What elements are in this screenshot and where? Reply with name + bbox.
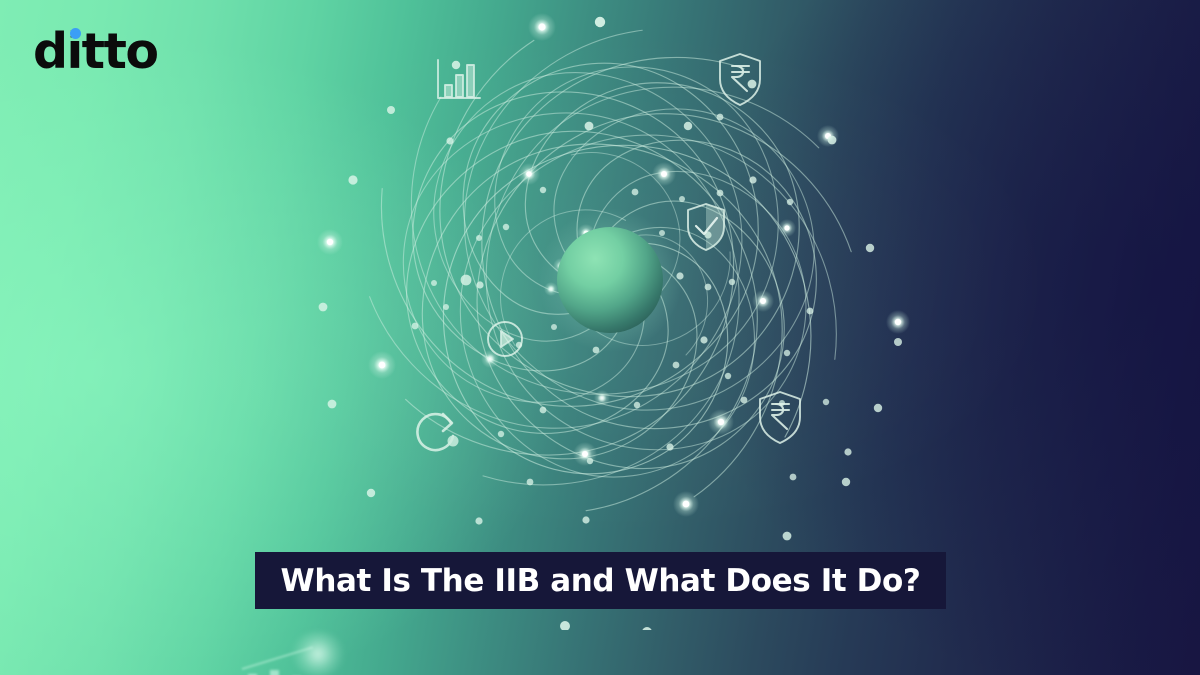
spiral-orbit-illustration (290, 0, 930, 630)
page-title: What Is The IIB and What Does It Do? (281, 563, 921, 599)
center-orb (538, 208, 682, 352)
logo-dot-icon (70, 28, 81, 39)
poster-canvas: ditto What Is The IIB and What Does It D… (0, 0, 1200, 675)
shield-check-icon (688, 204, 724, 250)
logo-wordmark: ditto (33, 27, 157, 76)
title-banner: What Is The IIB and What Does It Do? (255, 552, 946, 609)
ditto-logo[interactable]: ditto (33, 27, 157, 76)
shield-rupee-icon-top (720, 54, 760, 105)
